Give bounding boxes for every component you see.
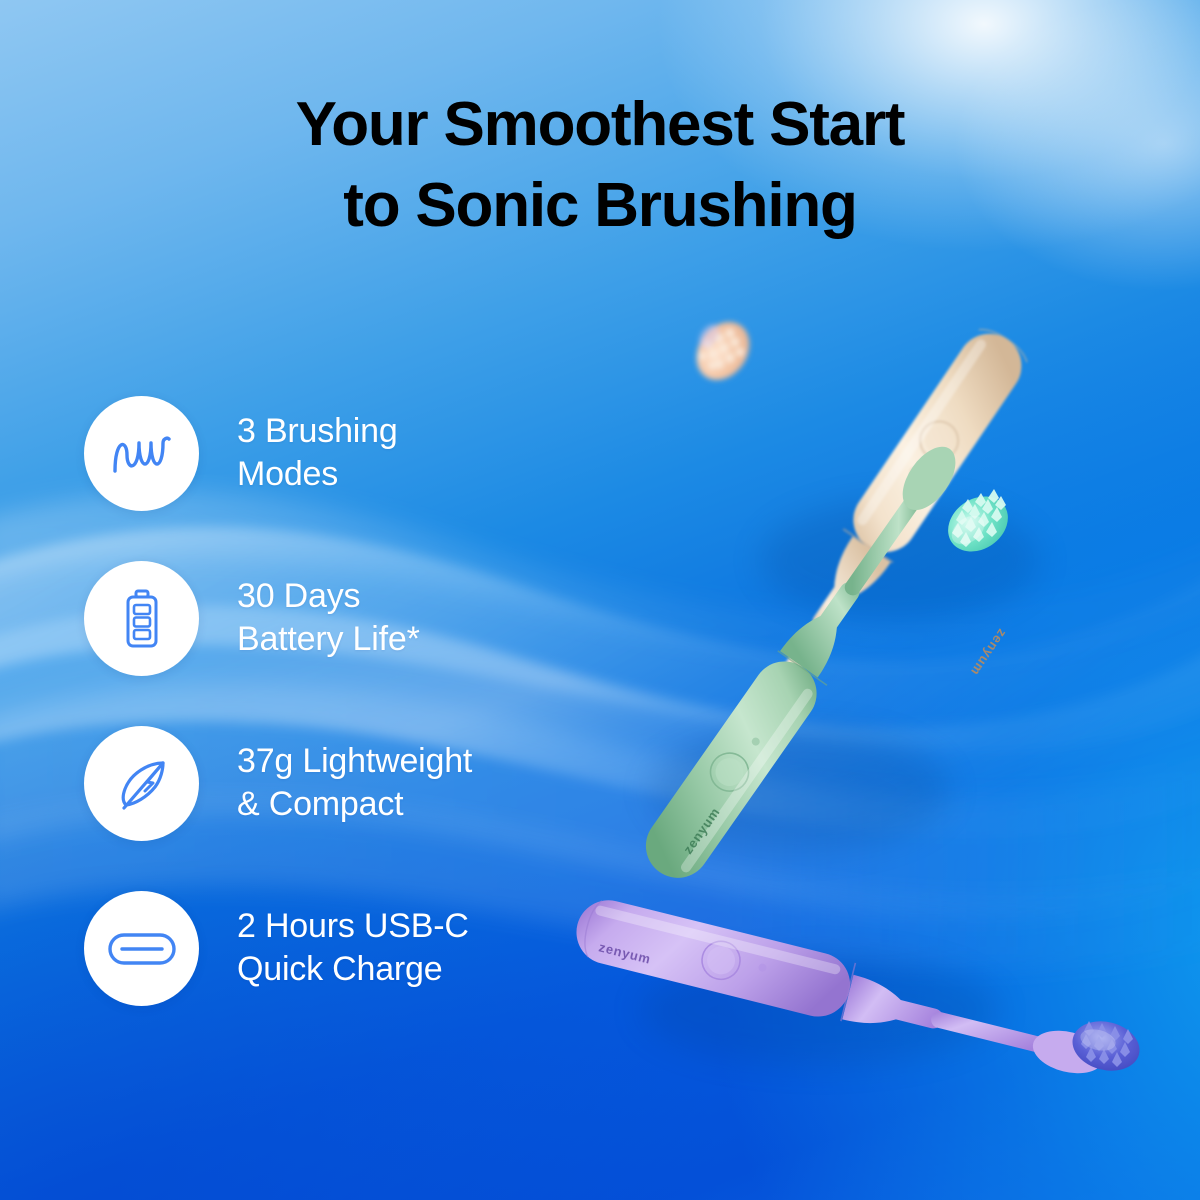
feature-label: 37g Lightweight & Compact	[237, 740, 637, 826]
feature-label-line-1: 2 Hours USB-C	[237, 905, 637, 948]
feather-icon	[113, 755, 171, 813]
feature-list: 3 Brushing Modes 30 Days Ba	[84, 396, 644, 1056]
feature-item-battery-life: 30 Days Battery Life*	[84, 561, 644, 676]
usb-c-port-icon	[107, 931, 177, 967]
battery-icon	[120, 588, 164, 650]
headline-line-2: to Sonic Brushing	[0, 166, 1200, 247]
cream-bristles	[686, 312, 760, 390]
feature-label-line-2: Battery Life*	[237, 618, 637, 661]
cream-brand-logo: zenyum	[968, 626, 1010, 678]
feature-icon-circle	[84, 396, 199, 511]
feature-label: 30 Days Battery Life*	[237, 575, 637, 661]
feature-label: 2 Hours USB-C Quick Charge	[237, 905, 637, 991]
promotional-banner: zenyum zenyum zenyum Your Smoothest Star…	[0, 0, 1200, 1200]
feature-label-line-1: 3 Brushing	[237, 410, 637, 453]
feature-item-lightweight: 37g Lightweight & Compact	[84, 726, 644, 841]
feature-label-line-2: & Compact	[237, 783, 637, 826]
feature-label-line-1: 37g Lightweight	[237, 740, 637, 783]
feature-icon-circle	[84, 726, 199, 841]
feature-icon-circle	[84, 561, 199, 676]
sound-wave-icon	[111, 431, 173, 477]
feature-icon-circle	[84, 891, 199, 1006]
feature-item-usb-c-charge: 2 Hours USB-C Quick Charge	[84, 891, 644, 1006]
feature-label-line-2: Modes	[237, 453, 637, 496]
page-title: Your Smoothest Start to Sonic Brushing	[0, 85, 1200, 246]
headline-line-1: Your Smoothest Start	[296, 90, 905, 159]
feature-item-brushing-modes: 3 Brushing Modes	[84, 396, 644, 511]
feature-label: 3 Brushing Modes	[237, 410, 637, 496]
feature-label-line-1: 30 Days	[237, 575, 637, 618]
feature-label-line-2: Quick Charge	[237, 948, 637, 991]
